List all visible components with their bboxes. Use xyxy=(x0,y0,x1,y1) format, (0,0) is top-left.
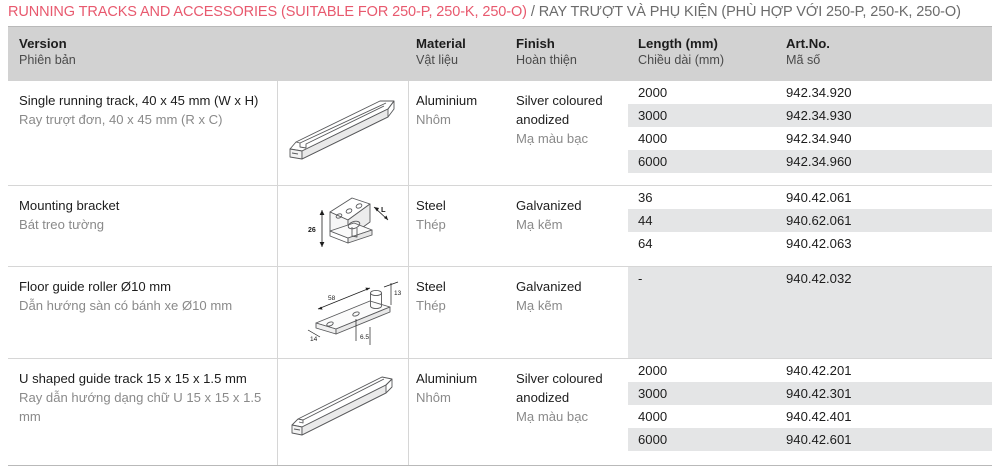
column-divider xyxy=(408,267,409,358)
column-header-material: Material Vật liệu xyxy=(416,35,466,69)
finish-en: Silver coloured anodized xyxy=(516,91,628,129)
column-header-length-vi: Chiều dài (mm) xyxy=(638,52,724,69)
variant-length: 3000 xyxy=(638,104,667,127)
column-header-length-en: Length (mm) xyxy=(638,35,724,52)
cell-material: Aluminium Nhôm xyxy=(416,369,510,407)
column-header-artno-en: Art.No. xyxy=(786,35,830,52)
cell-version: Floor guide roller Ø10 mm Dẫn hướng sàn … xyxy=(19,277,269,315)
variant-row[interactable]: - 940.42.032 xyxy=(628,267,992,290)
variant-row[interactable]: 36 940.42.061 xyxy=(628,186,992,209)
variant-length: 4000 xyxy=(638,405,667,428)
section-title-vietnamese: RAY TRƯỢT VÀ PHỤ KIỆN (PHÙ HỢP VỚI 250-P… xyxy=(539,4,961,20)
section-title-english: RUNNING TRACKS AND ACCESSORIES (SUITABLE… xyxy=(8,4,527,20)
variant-artno: 940.42.601 xyxy=(786,428,852,451)
cell-product-image xyxy=(278,359,408,465)
column-header-version: Version Phiên bản xyxy=(19,35,76,69)
variant-length: 64 xyxy=(638,232,653,255)
u-shaped-guide-track-illustration xyxy=(278,367,408,459)
column-header-material-en: Material xyxy=(416,35,466,52)
cell-variants: 2000 942.34.920 3000 942.34.930 4000 942… xyxy=(628,81,992,185)
column-header-artno-vi: Mã số xyxy=(786,52,830,69)
finish-vi: Mạ màu bạc xyxy=(516,407,628,426)
product-table: Version Phiên bản Material Vật liệu Fini… xyxy=(8,26,992,466)
variant-length: 4000 xyxy=(638,127,667,150)
cell-finish: Silver coloured anodized Mạ màu bạc xyxy=(516,91,628,148)
cell-variants: 2000 940.42.201 3000 940.42.301 4000 940… xyxy=(628,359,992,465)
material-en: Aluminium xyxy=(416,369,510,388)
finish-vi: Mạ kẽm xyxy=(516,296,628,315)
variant-row[interactable]: 4000 942.34.940 xyxy=(628,127,992,150)
variant-artno: 940.62.061 xyxy=(786,209,852,232)
material-en: Steel xyxy=(416,196,510,215)
variant-artno: 940.42.301 xyxy=(786,382,852,405)
variant-length: 6000 xyxy=(638,428,667,451)
cell-material: Aluminium Nhôm xyxy=(416,91,510,129)
finish-vi: Mạ kẽm xyxy=(516,215,628,234)
column-header-length: Length (mm) Chiều dài (mm) xyxy=(638,35,724,69)
variant-row[interactable]: 2000 942.34.920 xyxy=(628,81,992,104)
variant-row[interactable]: 3000 940.42.301 xyxy=(628,382,992,405)
column-header-version-vi: Phiên bản xyxy=(19,52,76,69)
cell-version: U shaped guide track 15 x 15 x 1.5 mm Ra… xyxy=(19,369,269,426)
variant-row[interactable]: 44 940.62.061 xyxy=(628,209,992,232)
variant-length: 44 xyxy=(638,209,653,232)
cell-finish: Galvanized Mạ kẽm xyxy=(516,196,628,234)
cell-finish: Silver coloured anodized Mạ màu bạc xyxy=(516,369,628,426)
variant-row[interactable]: 2000 940.42.201 xyxy=(628,359,992,382)
variant-row[interactable]: 4000 940.42.401 xyxy=(628,405,992,428)
cell-material: Steel Thép xyxy=(416,196,510,234)
column-header-version-en: Version xyxy=(19,35,76,52)
version-vi: Dẫn hướng sàn có bánh xe Ø10 mm xyxy=(19,296,269,315)
material-vi: Nhôm xyxy=(416,110,510,129)
dimension-label-58: 58 xyxy=(328,295,336,302)
table-header-row: Version Phiên bản Material Vật liệu Fini… xyxy=(8,27,992,81)
dimension-label-14: 14 xyxy=(310,336,318,343)
finish-en: Galvanized xyxy=(516,277,628,296)
variant-length: 3000 xyxy=(638,382,667,405)
variant-length: - xyxy=(638,267,642,290)
table-row[interactable]: Floor guide roller Ø10 mm Dẫn hướng sàn … xyxy=(8,267,992,359)
cell-finish: Galvanized Mạ kẽm xyxy=(516,277,628,315)
variant-artno: 942.34.940 xyxy=(786,127,852,150)
version-en: Floor guide roller Ø10 mm xyxy=(19,277,269,296)
column-header-finish-vi: Hoàn thiện xyxy=(516,52,577,69)
finish-en: Silver coloured anodized xyxy=(516,369,628,407)
cell-product-image: 26 L xyxy=(278,186,408,266)
finish-en: Galvanized xyxy=(516,196,628,215)
material-vi: Nhôm xyxy=(416,388,510,407)
column-header-finish-en: Finish xyxy=(516,35,577,52)
column-divider xyxy=(408,359,409,465)
dimension-label-L: L xyxy=(381,205,386,214)
table-row[interactable]: Single running track, 40 x 45 mm (W x H)… xyxy=(8,81,992,186)
version-vi: Ray trượt đơn, 40 x 45 mm (R x C) xyxy=(19,110,269,129)
variant-row[interactable]: 6000 940.42.601 xyxy=(628,428,992,451)
floor-guide-roller-illustration: 58 13 14 6.5 xyxy=(278,275,408,367)
column-header-artno: Art.No. Mã số xyxy=(786,35,830,69)
version-en: U shaped guide track 15 x 15 x 1.5 mm xyxy=(19,369,269,388)
cell-product-image xyxy=(278,81,408,185)
variant-length: 2000 xyxy=(638,81,667,104)
section-title-separator: / xyxy=(527,4,539,20)
dimension-label-13: 13 xyxy=(394,290,402,297)
material-vi: Thép xyxy=(416,215,510,234)
column-divider xyxy=(408,186,409,266)
variant-row[interactable]: 3000 942.34.930 xyxy=(628,104,992,127)
variant-row[interactable]: 64 940.42.063 xyxy=(628,232,992,255)
table-row[interactable]: Mounting bracket Bát treo tường xyxy=(8,186,992,267)
variant-artno: 942.34.960 xyxy=(786,150,852,173)
cell-variants: 36 940.42.061 44 940.62.061 64 940.42.06… xyxy=(628,186,992,266)
variant-artno: 940.42.061 xyxy=(786,186,852,209)
cell-version: Mounting bracket Bát treo tường xyxy=(19,196,269,234)
cell-product-image: 58 13 14 6.5 xyxy=(278,267,408,358)
cell-variants: - 940.42.032 xyxy=(628,267,992,358)
variant-length: 2000 xyxy=(638,359,667,382)
version-en: Single running track, 40 x 45 mm (W x H) xyxy=(19,91,269,110)
material-en: Aluminium xyxy=(416,91,510,110)
cell-version: Single running track, 40 x 45 mm (W x H)… xyxy=(19,91,269,129)
variant-length: 6000 xyxy=(638,150,667,173)
variant-artno: 942.34.930 xyxy=(786,104,852,127)
variant-artno: 940.42.032 xyxy=(786,267,852,290)
catalog-page: RUNNING TRACKS AND ACCESSORIES (SUITABLE… xyxy=(0,0,1000,469)
variant-artno: 940.42.201 xyxy=(786,359,852,382)
table-body: Single running track, 40 x 45 mm (W x H)… xyxy=(8,81,992,465)
dimension-label-6-5: 6.5 xyxy=(360,334,369,341)
material-vi: Thép xyxy=(416,296,510,315)
version-vi: Ray dẫn hướng dạng chữ U 15 x 15 x 1.5 m… xyxy=(19,388,269,426)
table-row[interactable]: U shaped guide track 15 x 15 x 1.5 mm Ra… xyxy=(8,359,992,465)
variant-artno: 940.42.401 xyxy=(786,405,852,428)
material-en: Steel xyxy=(416,277,510,296)
single-running-track-illustration xyxy=(278,87,408,179)
variant-artno: 940.42.063 xyxy=(786,232,852,255)
cell-material: Steel Thép xyxy=(416,277,510,315)
column-divider xyxy=(408,81,409,185)
version-vi: Bát treo tường xyxy=(19,215,269,234)
column-header-material-vi: Vật liệu xyxy=(416,52,466,69)
section-title: RUNNING TRACKS AND ACCESSORIES (SUITABLE… xyxy=(8,2,998,22)
variant-row[interactable]: 6000 942.34.960 xyxy=(628,150,992,173)
version-en: Mounting bracket xyxy=(19,196,269,215)
dimension-label-26: 26 xyxy=(308,227,316,234)
variant-artno: 942.34.920 xyxy=(786,81,852,104)
column-header-finish: Finish Hoàn thiện xyxy=(516,35,577,69)
variant-length: 36 xyxy=(638,186,653,209)
finish-vi: Mạ màu bạc xyxy=(516,129,628,148)
